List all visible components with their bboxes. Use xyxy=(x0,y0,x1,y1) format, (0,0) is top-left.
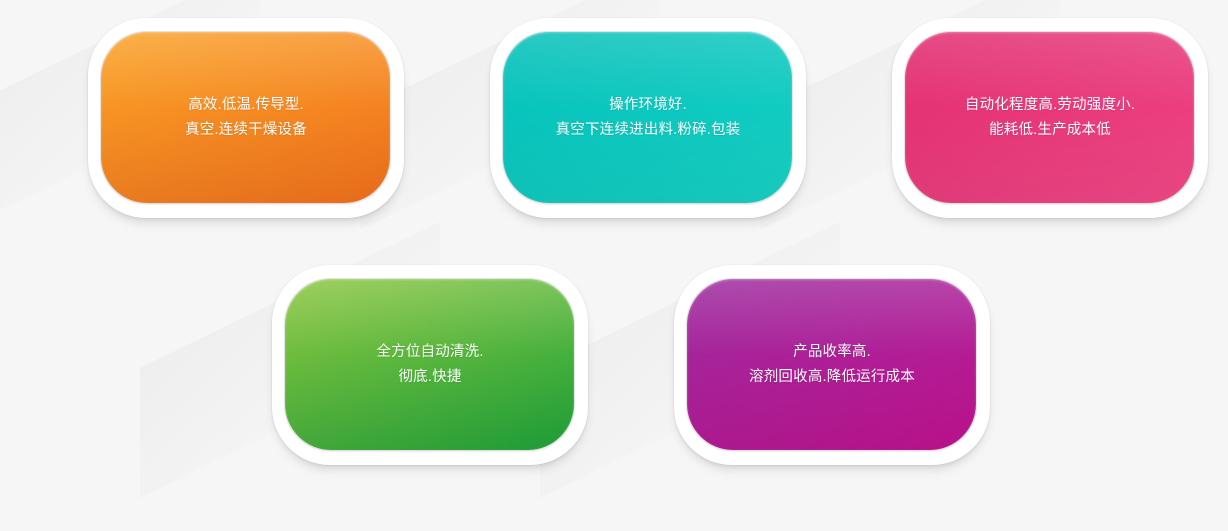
card-caption: 全方位自动清洗. 彻底.快捷 xyxy=(272,340,588,390)
caption-line-1: 全方位自动清洗. xyxy=(282,340,578,365)
caption-line-1: 操作环境好. xyxy=(500,93,796,118)
caption-line-2: 真空.连续干燥设备 xyxy=(98,118,394,143)
feature-card-cleaning[interactable]: 全方位自动清洗. 彻底.快捷 xyxy=(272,265,588,465)
caption-line-2: 真空下连续进出料.粉碎.包装 xyxy=(500,118,796,143)
card-caption: 高效.低温.传导型. 真空.连续干燥设备 xyxy=(88,93,404,143)
caption-line-1: 自动化程度高.劳动强度小. xyxy=(902,93,1198,118)
caption-line-1: 高效.低温.传导型. xyxy=(98,93,394,118)
caption-line-2: 能耗低.生产成本低 xyxy=(902,118,1198,143)
card-caption: 产品收率高. 溶剂回收高.降低运行成本 xyxy=(674,340,990,390)
caption-line-2: 溶剂回收高.降低运行成本 xyxy=(684,365,980,390)
cards-canvas: 高效.低温.传导型. 真空.连续干燥设备 操作环境好. 真空下连续进出料.粉碎.… xyxy=(0,0,1228,531)
caption-line-1: 产品收率高. xyxy=(684,340,980,365)
feature-card-automation[interactable]: 自动化程度高.劳动强度小. 能耗低.生产成本低 xyxy=(892,18,1208,218)
card-caption: 操作环境好. 真空下连续进出料.粉碎.包装 xyxy=(490,93,806,143)
caption-line-2: 彻底.快捷 xyxy=(282,365,578,390)
feature-card-efficiency[interactable]: 高效.低温.传导型. 真空.连续干燥设备 xyxy=(88,18,404,218)
card-caption: 自动化程度高.劳动强度小. 能耗低.生产成本低 xyxy=(892,93,1208,143)
feature-card-environment[interactable]: 操作环境好. 真空下连续进出料.粉碎.包装 xyxy=(490,18,806,218)
feature-card-yield[interactable]: 产品收率高. 溶剂回收高.降低运行成本 xyxy=(674,265,990,465)
